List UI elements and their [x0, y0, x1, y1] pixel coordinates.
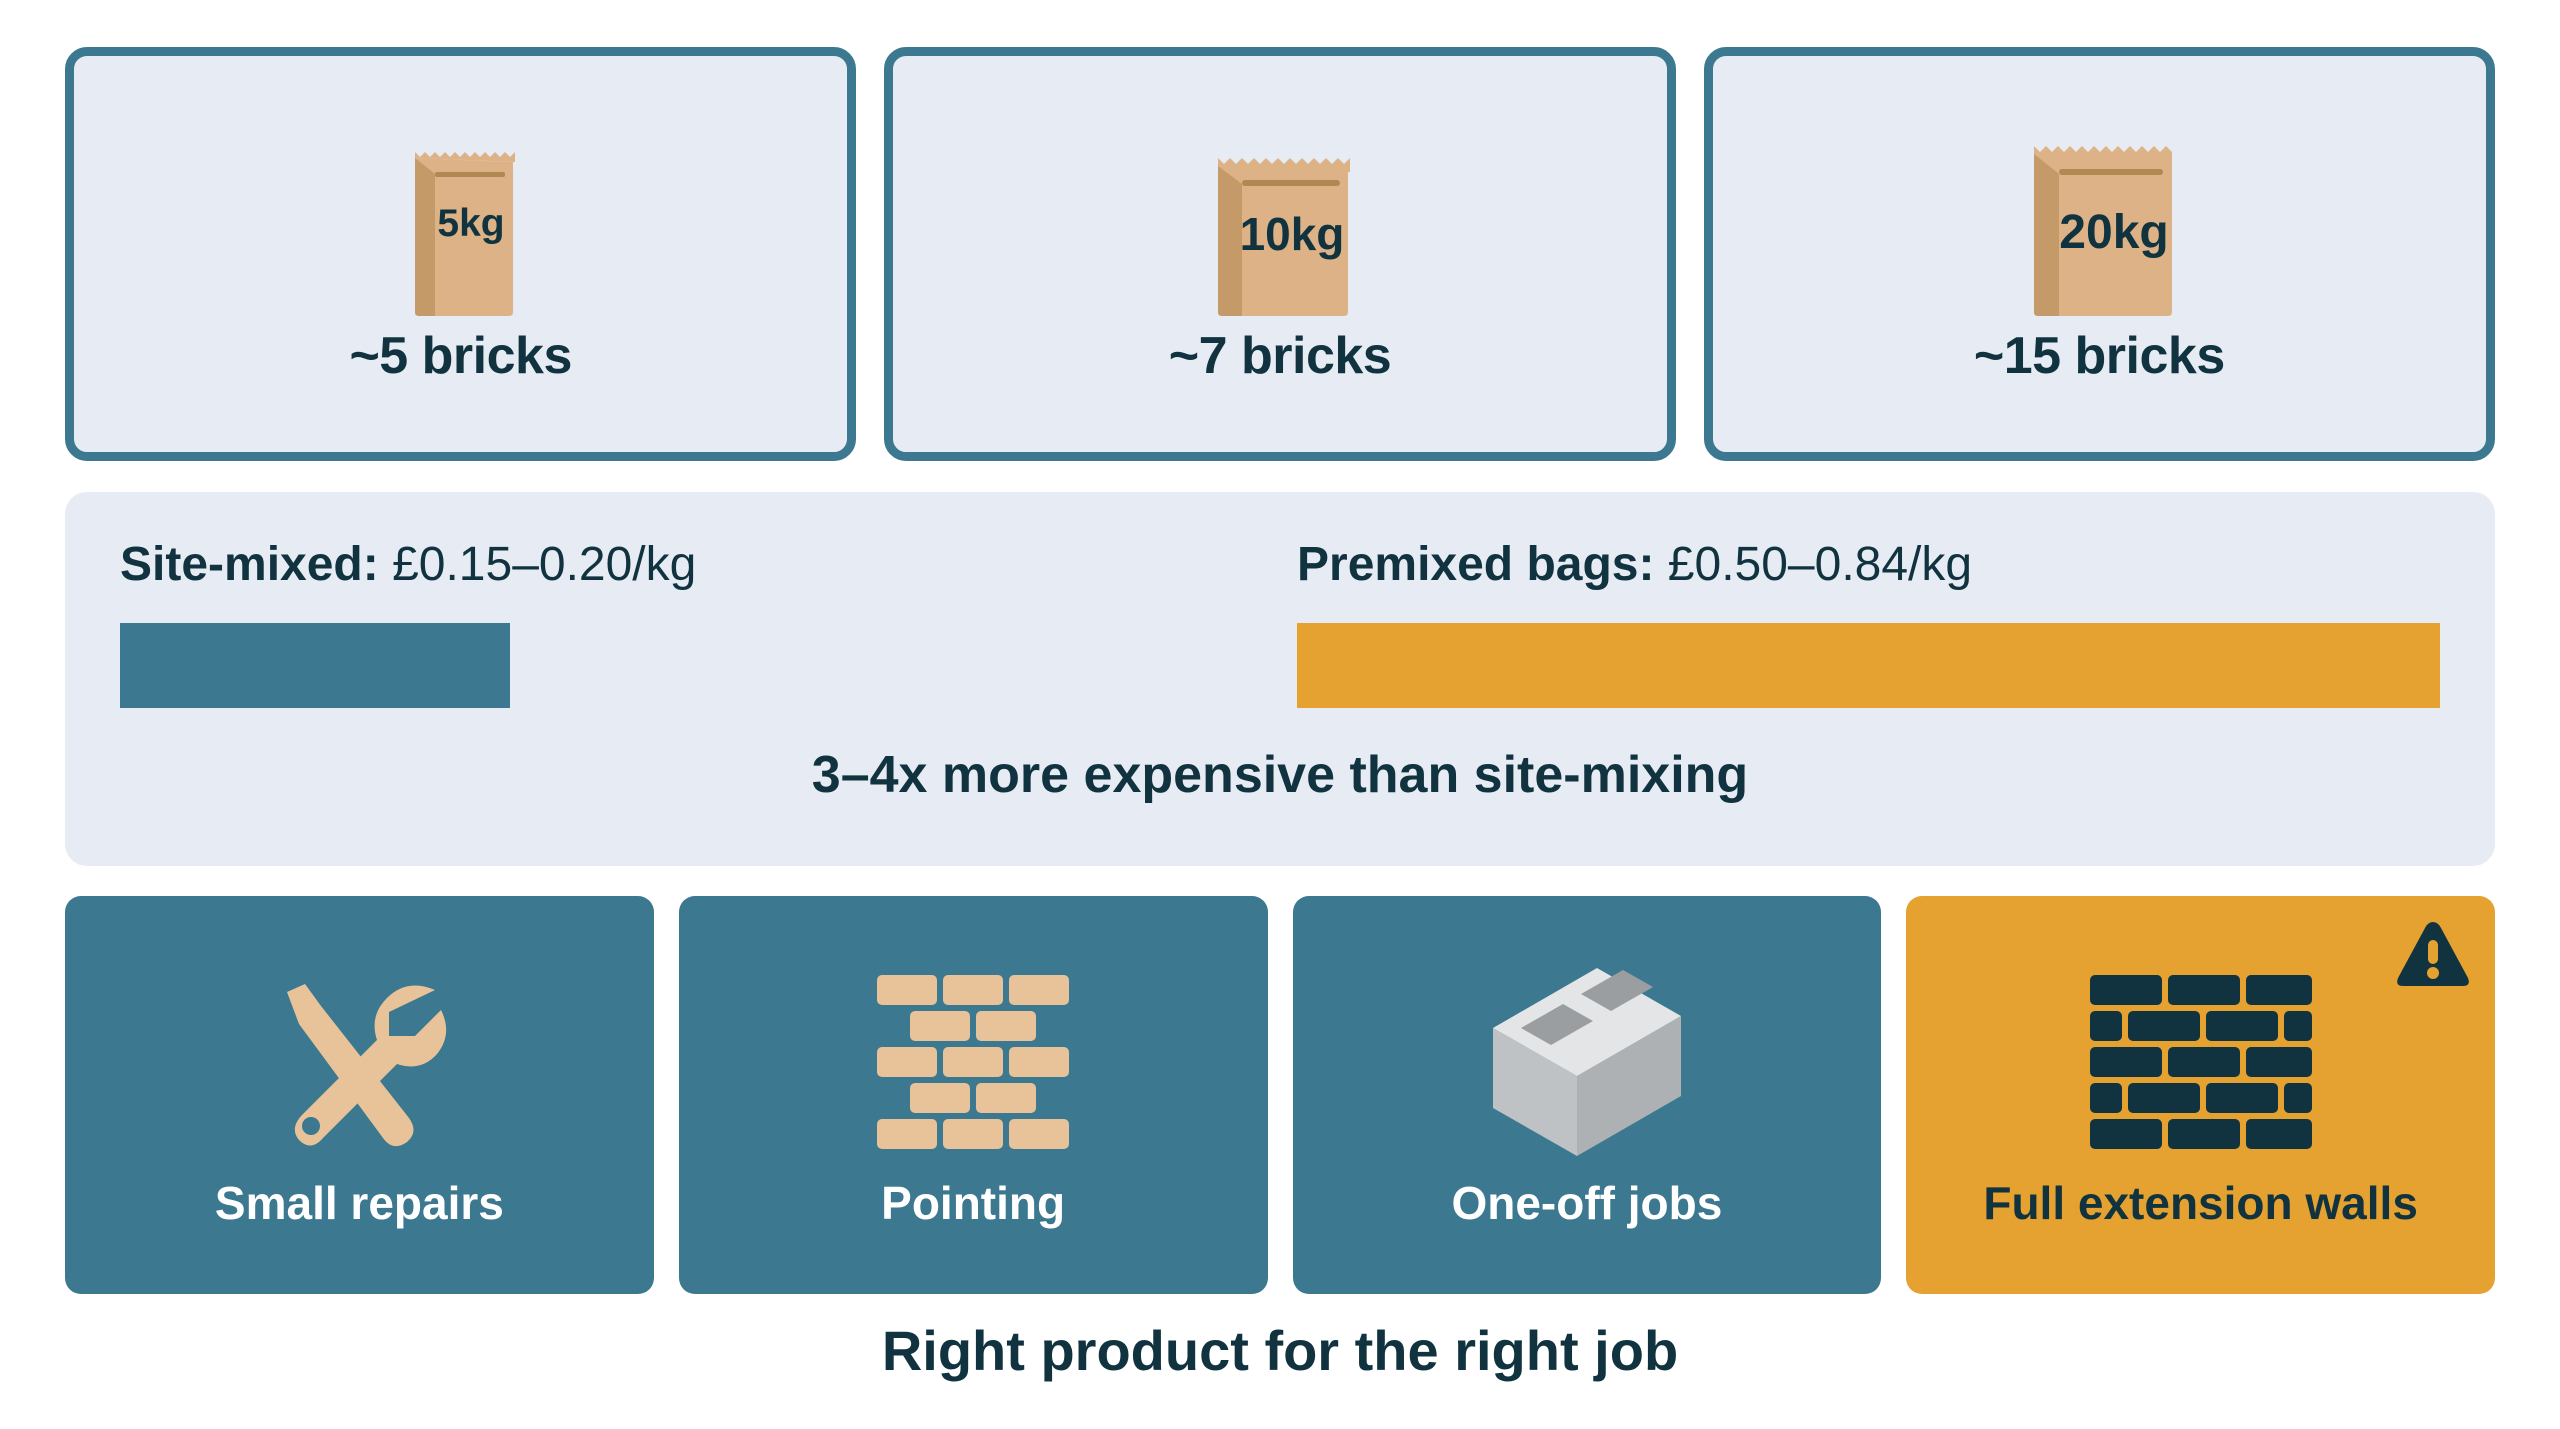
bag-illustration-wrap: 5kg [401, 66, 521, 316]
use-case-tile-row: Small repairs [65, 896, 2495, 1294]
use-case-tile-pointing[interactable]: Pointing [679, 896, 1268, 1294]
site-mixed-cost-bar [120, 623, 510, 708]
cost-comparison-panel: Site-mixed: £0.15–0.20/kg Premixed bags:… [65, 492, 2495, 866]
brick-wall-icon [2086, 960, 2316, 1172]
bag-illustration-wrap: 10kg [1204, 66, 1356, 316]
tools-icon [259, 960, 459, 1172]
cost-comparison-note: 3–4x more expensive than site-mixing [65, 745, 2495, 805]
bag-size-card-5kg: 5kg ~5 bricks [65, 47, 856, 461]
use-case-tile-small-repairs[interactable]: Small repairs [65, 896, 654, 1294]
concrete-block-icon [1477, 960, 1697, 1172]
use-case-tile-one-off-jobs[interactable]: One-off jobs [1293, 896, 1882, 1294]
paper-bag-icon: 20kg [2018, 138, 2180, 316]
bag-weight-text: 10kg [1240, 208, 1345, 260]
warning-triangle-icon [2395, 920, 2471, 995]
site-mixed-cost-label: Site-mixed: £0.15–0.20/kg [120, 537, 696, 592]
bag-brick-count-label: ~5 bricks [349, 326, 571, 386]
bag-size-card-10kg: 10kg ~7 bricks [884, 47, 1675, 461]
brick-wall-icon [873, 960, 1073, 1172]
premixed-cost-label: Premixed bags: £0.50–0.84/kg [1297, 537, 1972, 592]
bag-brick-count-label: ~7 bricks [1169, 326, 1391, 386]
infographic-root: 5kg ~5 bricks 10kg ~7 brick [0, 0, 2560, 1429]
use-case-tile-full-extension-walls[interactable]: Full extension walls [1906, 896, 2495, 1294]
use-case-tile-label: One-off jobs [1451, 1176, 1722, 1230]
bag-size-card-20kg: 20kg ~15 bricks [1704, 47, 2495, 461]
bag-weight-text: 20kg [2060, 206, 2169, 259]
bag-size-card-row: 5kg ~5 bricks 10kg ~7 brick [65, 47, 2495, 461]
use-case-tile-label: Pointing [881, 1176, 1065, 1230]
paper-bag-icon: 5kg [401, 144, 521, 316]
premixed-cost-bar [1297, 623, 2440, 708]
premixed-price: £0.50–0.84/kg [1654, 538, 1972, 591]
use-case-tile-label: Full extension walls [1983, 1176, 2418, 1230]
bag-illustration-wrap: 20kg [2018, 66, 2180, 316]
use-case-tile-label: Small repairs [215, 1176, 504, 1230]
bag-brick-count-label: ~15 bricks [1974, 326, 2225, 386]
premixed-name: Premixed bags: [1297, 538, 1654, 591]
bag-weight-text: 5kg [437, 202, 504, 245]
site-mixed-price: £0.15–0.20/kg [379, 538, 697, 591]
site-mixed-name: Site-mixed: [120, 538, 379, 591]
footer-caption: Right product for the right job [0, 1318, 2560, 1383]
paper-bag-icon: 10kg [1204, 150, 1356, 316]
